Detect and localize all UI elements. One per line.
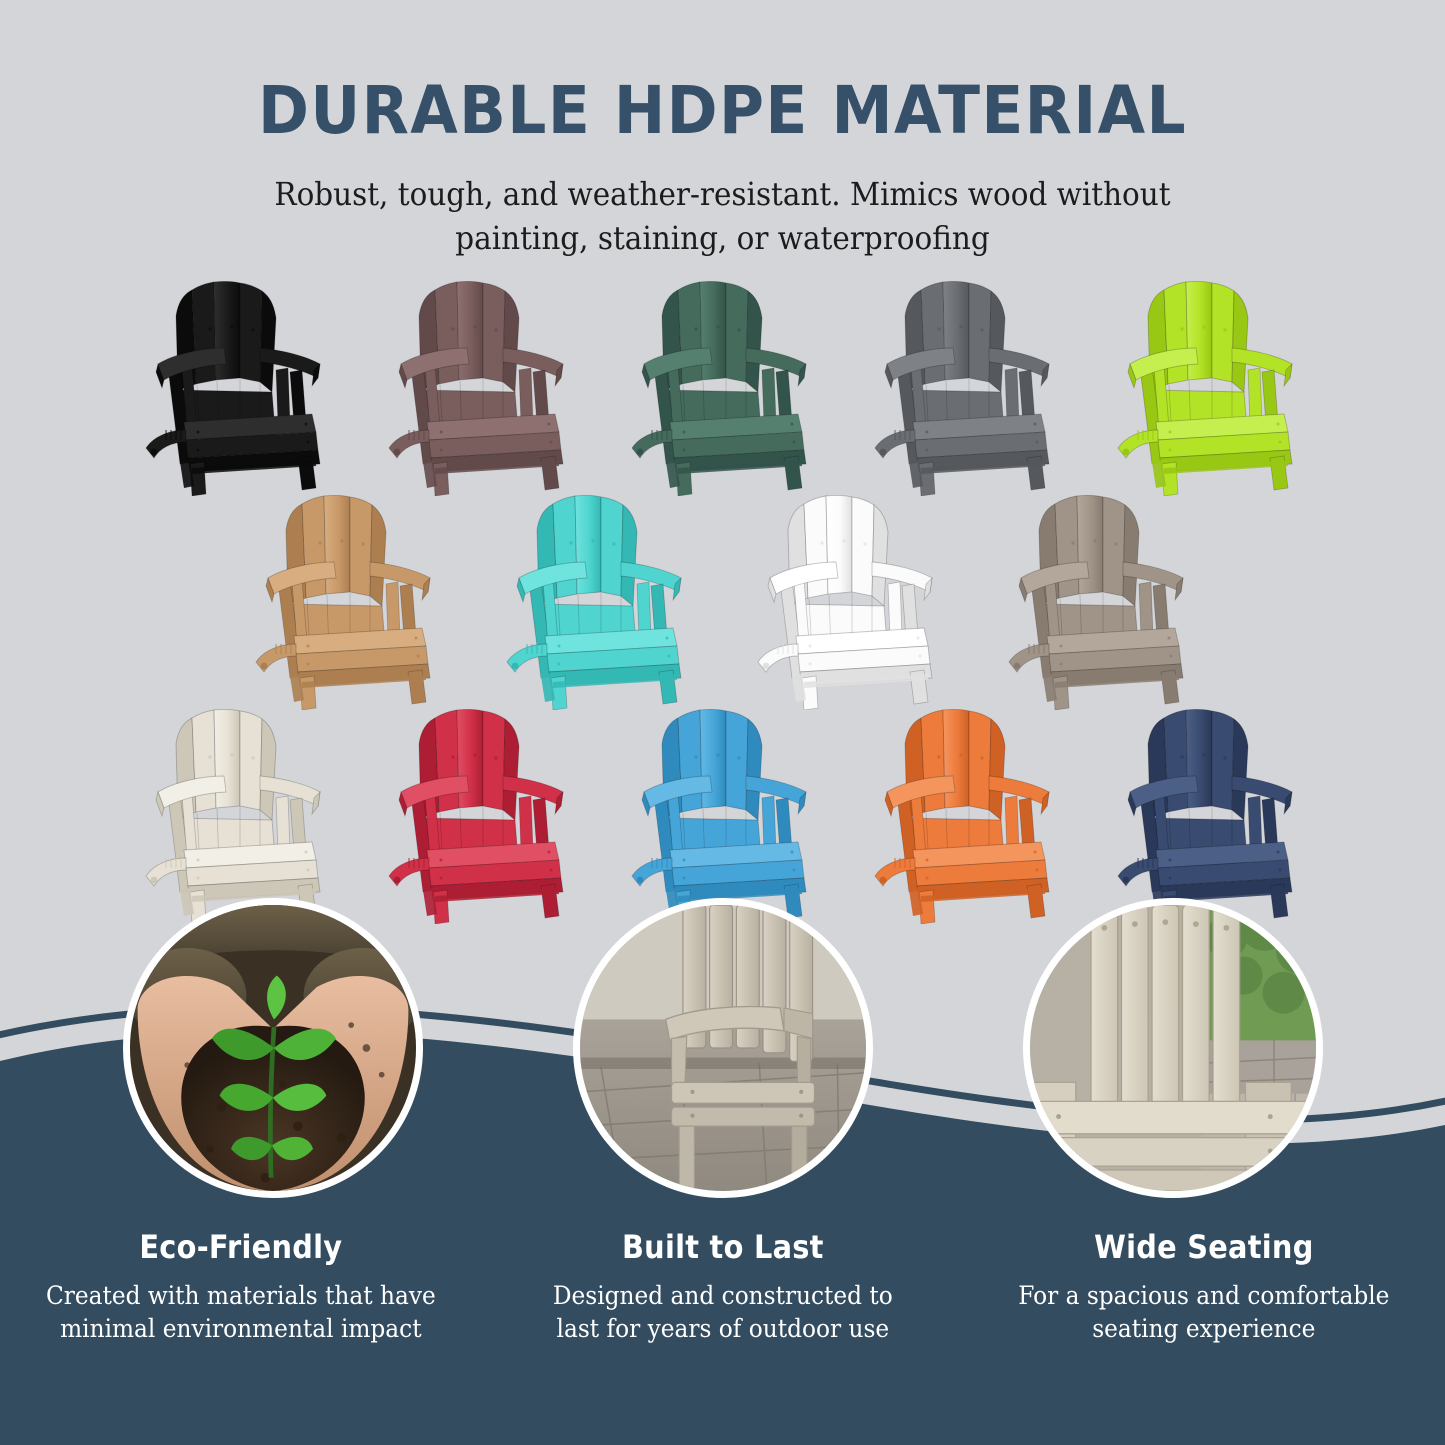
wide-seat-closeup-photo [1030, 905, 1316, 1191]
feature-title: Eco-Friendly [40, 1228, 441, 1266]
feature-description: Created with materials that have minimal… [34, 1279, 448, 1345]
feature-title: Wide Seating [1004, 1228, 1405, 1266]
feature-desc-line-1: Designed and constructed to [515, 1279, 929, 1312]
chair-swatch-teak[interactable] [223, 482, 474, 714]
feature-wide-seating: Wide Seating For a spacious and comforta… [963, 1228, 1445, 1345]
feature-desc-line-1: Created with materials that have [34, 1279, 448, 1312]
chair-swatch-lime-green[interactable] [1088, 268, 1331, 500]
chair-swatch-navy-blue[interactable] [1088, 696, 1331, 928]
chair-row-2 [4, 482, 1445, 714]
chair-row-1 [2, 268, 1445, 500]
chair-swatch-gray[interactable] [845, 268, 1088, 500]
header: DURABLE HDPE MATERIAL Robust, tough, and… [0, 0, 1445, 260]
page-title: DURABLE HDPE MATERIAL [51, 78, 1395, 144]
feature-desc-line-2: last for years of outdoor use [515, 1312, 929, 1345]
adirondack-chair-ivory [140, 700, 336, 924]
adirondack-chair-gray-taupe [1003, 486, 1199, 710]
adirondack-chair-blue [626, 700, 822, 924]
page-subtitle: Robust, tough, and weather-resistant. Mi… [58, 172, 1387, 260]
feature-desc-line-2: seating experience [997, 1312, 1411, 1345]
feature-built-to-last: Built to Last Designed and constructed t… [482, 1228, 964, 1345]
eco-friendly-photo-circle [123, 898, 423, 1198]
adirondack-chair-black [140, 272, 336, 496]
adirondack-chair-brown [383, 272, 579, 496]
built-to-last-photo-circle [573, 898, 873, 1198]
chair-row-3 [2, 696, 1445, 928]
adirondack-chair-orange [869, 700, 1065, 924]
adirondack-chair-turquoise [501, 486, 697, 710]
chair-swatch-black[interactable] [116, 268, 359, 500]
chair-swatch-gray-taupe[interactable] [976, 482, 1227, 714]
hands-holding-seedling-photo [130, 905, 416, 1191]
chair-swatch-ivory[interactable] [116, 696, 359, 928]
chair-on-patio-photo [580, 905, 866, 1191]
feature-description: Designed and constructed to last for yea… [515, 1279, 929, 1345]
chair-swatch-red[interactable] [359, 696, 602, 928]
chair-swatch-white[interactable] [725, 482, 976, 714]
chair-swatch-blue[interactable] [602, 696, 845, 928]
feature-title: Built to Last [522, 1228, 923, 1266]
feature-description: For a spacious and comfortable seating e… [997, 1279, 1411, 1345]
chair-swatch-brown[interactable] [359, 268, 602, 500]
feature-eco-friendly: Eco-Friendly Created with materials that… [0, 1228, 482, 1345]
subtitle-line-1: Robust, tough, and weather-resistant. Mi… [58, 172, 1387, 216]
adirondack-chair-red [383, 700, 579, 924]
feature-captions: Eco-Friendly Created with materials that… [0, 1228, 1445, 1345]
feature-desc-line-2: minimal environmental impact [34, 1312, 448, 1345]
adirondack-chair-teak [250, 486, 446, 710]
adirondack-chair-white [752, 486, 948, 710]
adirondack-chair-navy-blue [1112, 700, 1308, 924]
wide-seating-photo-circle [1023, 898, 1323, 1198]
feature-photo-circles [0, 898, 1445, 1228]
adirondack-chair-dark-green [626, 272, 822, 496]
adirondack-chair-lime-green [1112, 272, 1308, 496]
chair-swatch-orange[interactable] [845, 696, 1088, 928]
chair-color-grid [0, 268, 1445, 928]
subtitle-line-2: painting, staining, or waterproofing [58, 216, 1387, 260]
adirondack-chair-gray [869, 272, 1065, 496]
chair-swatch-dark-green[interactable] [602, 268, 845, 500]
chair-swatch-turquoise[interactable] [474, 482, 725, 714]
feature-desc-line-1: For a spacious and comfortable [997, 1279, 1411, 1312]
